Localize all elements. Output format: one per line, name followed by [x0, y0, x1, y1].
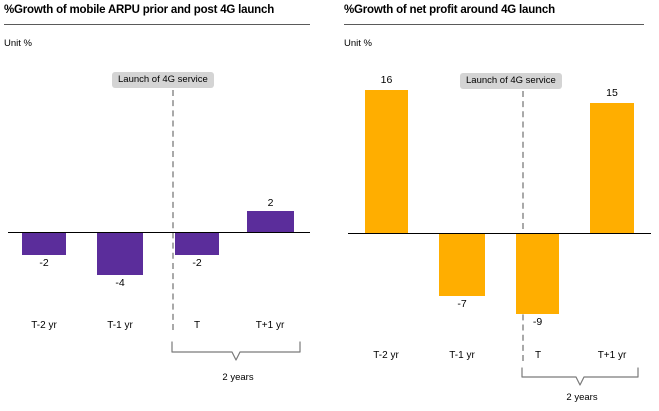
bar-t-minus-1-right — [439, 234, 485, 296]
x-axis-label-t-minus-1-right: T-1 yr — [432, 350, 492, 361]
x-axis-label-t-plus-1: T+1 yr — [240, 320, 300, 331]
bar-value-t-minus-1-right: -7 — [439, 298, 485, 310]
launch-divider-line — [172, 90, 174, 330]
plot-area-arpu: Launch of 4G service -2 -4 -2 2 T-2 yr T… — [0, 0, 340, 411]
bar-t-minus-2 — [22, 233, 66, 255]
bar-value-t-minus-2: -2 — [22, 257, 66, 269]
plot-area-net-profit: Launch of 4G service 16 -7 -9 15 T-2 yr … — [340, 0, 659, 411]
x-axis-label-t-minus-2: T-2 yr — [14, 320, 74, 331]
bar-t — [175, 233, 219, 255]
bar-value-t-minus-2-right: 16 — [365, 74, 408, 86]
bar-value-t-minus-1: -4 — [97, 277, 143, 289]
zero-axis-line-right — [348, 233, 651, 234]
brace-label-two-years-right: 2 years — [528, 392, 636, 403]
bar-t-plus-1-right — [590, 103, 634, 233]
x-axis-label-t-minus-2-right: T-2 yr — [356, 350, 416, 361]
brace-icon — [168, 340, 308, 368]
bar-t-right — [516, 234, 559, 314]
bar-t-minus-2-right — [365, 90, 408, 233]
launch-callout-label: Launch of 4G service — [112, 72, 214, 88]
two-year-brace — [168, 340, 308, 373]
bar-value-t: -2 — [175, 257, 219, 269]
x-axis-label-t: T — [167, 320, 227, 331]
bar-value-t-plus-1-right: 15 — [590, 87, 634, 99]
chart-panel-arpu: %Growth of mobile ARPU prior and post 4G… — [0, 0, 340, 411]
bar-t-minus-1 — [97, 233, 143, 275]
launch-callout-label-right: Launch of 4G service — [460, 73, 562, 89]
chart-panel-net-profit: %Growth of net profit around 4G launch U… — [340, 0, 659, 411]
bar-t-plus-1 — [247, 211, 294, 232]
chart-page: %Growth of mobile ARPU prior and post 4G… — [0, 0, 659, 411]
x-axis-label-t-minus-1: T-1 yr — [90, 320, 150, 331]
x-axis-label-t-right: T — [508, 350, 568, 361]
brace-label-two-years: 2 years — [180, 372, 296, 383]
x-axis-label-t-plus-1-right: T+1 yr — [582, 350, 642, 361]
brace-icon-right — [518, 366, 646, 392]
bar-value-t-plus-1: 2 — [247, 197, 294, 209]
bar-value-t-right: -9 — [516, 316, 559, 328]
